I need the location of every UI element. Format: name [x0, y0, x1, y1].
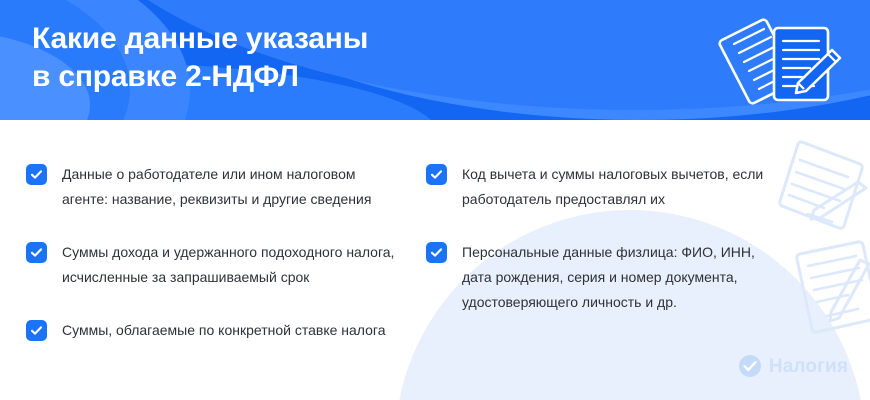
- check-icon: [426, 242, 447, 263]
- check-icon: [26, 164, 47, 185]
- list-item-label: Суммы, облагаемые по конкретной ставке н…: [62, 318, 386, 343]
- check-circle-icon: [738, 354, 762, 378]
- content-area: Данные о работодателе или ином налоговом…: [0, 120, 870, 400]
- list-item: Код вычета и суммы налоговых вычетов, ес…: [426, 162, 786, 212]
- list-item: Суммы дохода и удержанного подоходного н…: [26, 240, 421, 290]
- header-banner: Какие данные указаны в справке 2-НДФЛ: [0, 0, 870, 120]
- brand-logo: Налогия: [738, 354, 848, 378]
- list-item: Суммы, облагаемые по конкретной ставке н…: [26, 318, 421, 343]
- list-item: Персональные данные физлица: ФИО, ИНН, д…: [426, 240, 786, 315]
- list-item-label: Код вычета и суммы налоговых вычетов, ес…: [462, 162, 772, 212]
- check-icon: [26, 242, 47, 263]
- list-item: Данные о работодателе или ином налоговом…: [26, 162, 421, 212]
- list-item-label: Суммы дохода и удержанного подоходного н…: [62, 240, 402, 290]
- checklist-column-right: Код вычета и суммы налоговых вычетов, ес…: [426, 162, 786, 343]
- page-title: Какие данные указаны в справке 2-НДФЛ: [32, 20, 592, 96]
- infographic-card: Какие данные указаны в справке 2-НДФЛ: [0, 0, 870, 400]
- documents-pencil-icon: [714, 14, 844, 109]
- check-icon: [26, 320, 47, 341]
- checklist-column-left: Данные о работодателе или ином налоговом…: [26, 162, 421, 371]
- list-item-label: Данные о работодателе или ином налоговом…: [62, 162, 402, 212]
- list-item-label: Персональные данные физлица: ФИО, ИНН, д…: [462, 240, 772, 315]
- check-icon: [426, 164, 447, 185]
- brand-logo-text: Налогия: [769, 357, 848, 376]
